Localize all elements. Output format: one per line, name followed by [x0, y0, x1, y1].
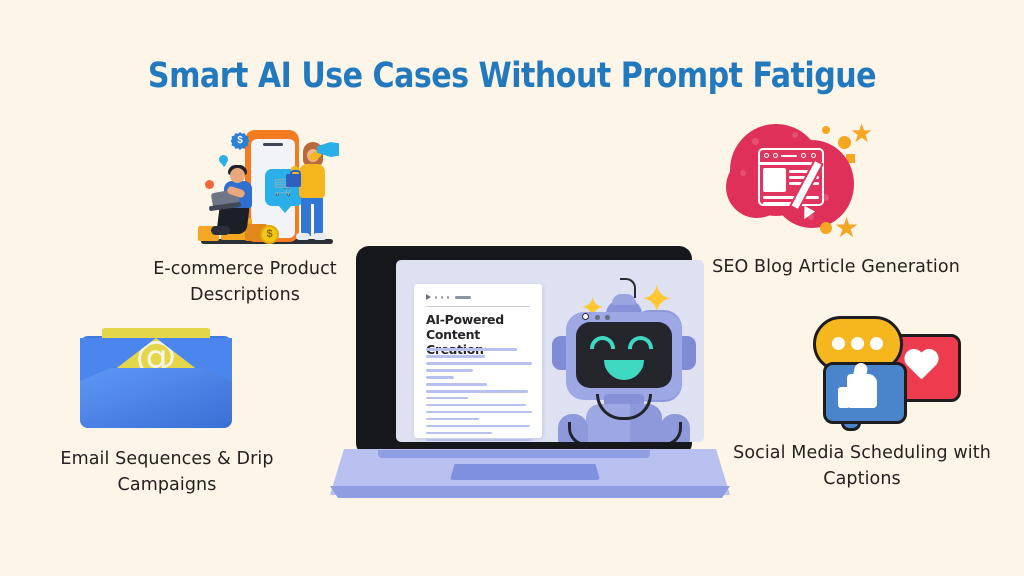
robot-camera-icon: [582, 313, 589, 320]
document-text-line: [426, 348, 517, 351]
toolbar-dot-1: [435, 296, 437, 298]
blob-speck-3: [740, 170, 746, 176]
laptop-base-lip: [330, 486, 730, 498]
document-text-line: [426, 425, 530, 428]
document-text-line: [426, 439, 532, 442]
play-icon: [426, 294, 431, 300]
shopping-bag-icon: [286, 174, 301, 187]
orange-dot-icon: [205, 180, 214, 189]
deco-star-2: ★: [834, 214, 859, 242]
toolbar-dot-2: [441, 296, 443, 298]
document-body-lines: [426, 348, 532, 442]
envelope-front: [80, 368, 232, 428]
browser-dot-4: [811, 153, 816, 158]
document-text-line: [426, 362, 532, 365]
gold-coin-icon: $: [260, 225, 279, 244]
toolbar-bar-icon: [455, 296, 471, 299]
comment-dot-2: [851, 337, 864, 350]
document-page: AI-Powered Content Creation: [414, 284, 542, 438]
teal-bubble-dot-icon: [219, 155, 228, 164]
page-title: Smart AI Use Cases Without Prompt Fatigu…: [72, 56, 953, 96]
thumbs-up-icon: [847, 374, 877, 408]
ai-robot-mascot: ✦ ✦: [544, 272, 704, 440]
infographic-canvas: Smart AI Use Cases Without Prompt Fatigu…: [0, 0, 1024, 576]
caption-social: Social Media Scheduling with Captions: [718, 440, 1006, 492]
document-text-line: [426, 376, 454, 379]
robot-antenna-cap: [612, 294, 636, 305]
comment-dot-1: [832, 337, 845, 350]
man-shoe: [211, 226, 230, 235]
laptop-hinge: [378, 450, 650, 458]
document-divider: [426, 306, 530, 307]
document-text-line: [426, 390, 528, 393]
woman-legs: [301, 196, 323, 236]
phone-notch: [263, 143, 283, 146]
document-text-line: [426, 418, 479, 421]
open-envelope-icon: @: [80, 312, 232, 432]
document-toolbar: [426, 294, 530, 300]
laptop-screen: AI-Powered Content Creation ✦ ✦: [396, 260, 704, 442]
document-text-line: [426, 383, 487, 386]
man-head: [230, 168, 245, 183]
deco-circle-2: [822, 126, 830, 134]
browser-dot-2: [773, 153, 778, 158]
toolbar-dot-3: [447, 296, 449, 298]
blob-speck-2: [792, 132, 798, 138]
blob-speck-1: [752, 138, 759, 145]
robot-led-1: [595, 315, 600, 320]
document-text-line: [426, 369, 473, 372]
browser-dot-1: [764, 153, 769, 158]
document-text-line: [426, 397, 468, 400]
woman-shoe-right: [313, 233, 327, 240]
robot-arm-outline-right: [652, 422, 682, 442]
deco-circle-3: [820, 222, 832, 234]
browser-dot-3: [801, 153, 806, 158]
document-text-line: [426, 411, 532, 414]
laptop-trackpad: [450, 464, 600, 480]
heart-icon: [903, 350, 939, 384]
blog-pen-browser-icon: ★ ★: [722, 118, 872, 250]
article-thumbnail: [763, 168, 786, 192]
comment-dot-3: [870, 337, 883, 350]
document-text-line: [426, 355, 485, 358]
robot-arm-outline-left: [568, 422, 598, 442]
caption-email: Email Sequences & Drip Campaigns: [30, 446, 304, 498]
document-text-line: [426, 404, 526, 407]
laptop-illustration: AI-Powered Content Creation ✦ ✦: [330, 246, 730, 514]
document-text-line: [426, 432, 492, 435]
woman-shoe-left: [296, 233, 310, 240]
woman-torso: [299, 164, 325, 198]
robot-led-2: [605, 315, 610, 320]
deco-star-1: ★: [850, 120, 873, 146]
laptop-lid: AI-Powered Content Creation ✦ ✦: [356, 246, 692, 456]
social-reaction-bubbles-icon: [805, 312, 965, 430]
ecommerce-shopping-illustration: $ 🛒 $: [183, 122, 347, 252]
article-text-line-4: [763, 196, 819, 199]
